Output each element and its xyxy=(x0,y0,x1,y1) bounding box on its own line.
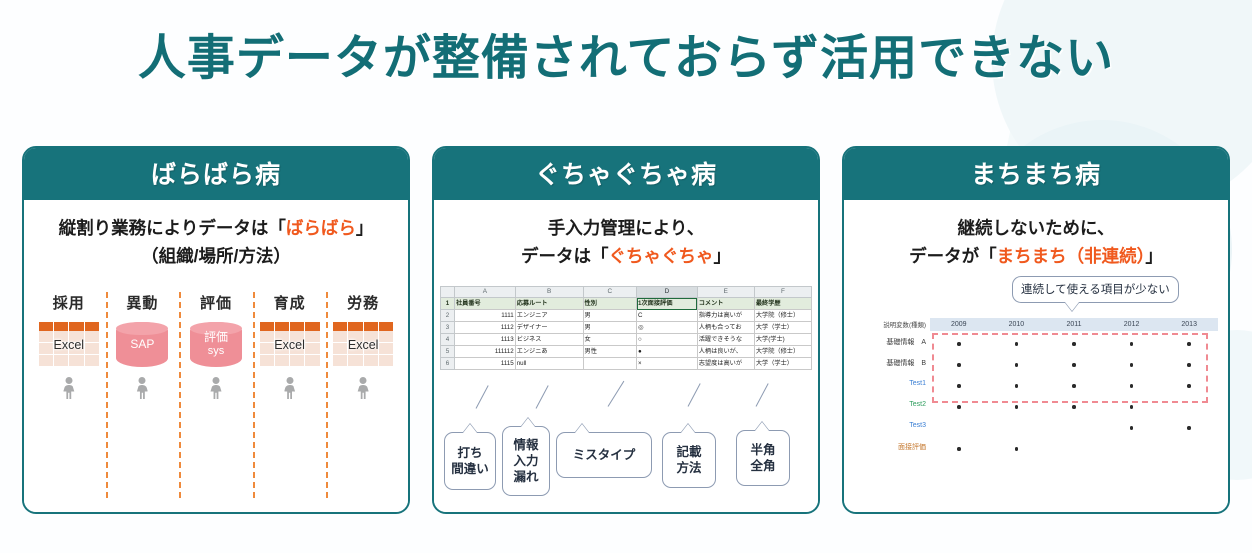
cell-d4[interactable]: ○ xyxy=(637,334,698,346)
callout-line-2: 全角 xyxy=(750,458,775,474)
matrix-cell-empty xyxy=(1045,415,1103,436)
issue-callouts: 打ち 間違い 情報 入力 漏れ ミスタイプ 記載 xyxy=(440,416,812,506)
matrix-cell xyxy=(988,331,1046,352)
cell-c4[interactable]: 女 xyxy=(583,334,637,346)
cell-c6[interactable] xyxy=(583,358,637,370)
data-dot xyxy=(1015,342,1019,346)
card-guchagucha-header: ぐちゃぐちゃ病 xyxy=(434,148,818,200)
excel-label: Excel xyxy=(39,322,99,367)
person-icon xyxy=(136,377,148,399)
system-column-saiyou: 採用 Excel xyxy=(32,292,106,504)
spreadsheet-table[interactable]: A B C D E F 1 社員番号 応募ルート 性別 1次面接評価 コメント xyxy=(440,286,812,370)
matrix-year-2013: 2013 xyxy=(1160,318,1218,331)
spreadsheet-column-header-row: A B C D E F xyxy=(441,287,812,298)
matrix-row: Test1 xyxy=(858,373,1218,394)
card-machimachi-header: まちまち病 xyxy=(844,148,1228,200)
page-title: 人事データが整備されておらず活用できない xyxy=(0,18,1252,88)
matrix-row-label-test2: Test2 xyxy=(858,394,930,415)
col-letter-f[interactable]: F xyxy=(754,287,811,298)
callout-hankaku-zenkaku[interactable]: 半角 全角 xyxy=(736,430,790,486)
column-label: 異動 xyxy=(126,292,158,313)
excel-table-icon: Excel xyxy=(333,322,393,367)
excel-table-icon: Excel xyxy=(39,322,99,367)
data-dot xyxy=(1130,363,1134,367)
callout-uchi-machigai[interactable]: 打ち 間違い xyxy=(444,432,496,490)
table-row: 5 111112 エンジニあ 男性 ● 人柄は良いが、 大学院（修士） xyxy=(441,346,812,358)
matrix-cell xyxy=(988,436,1046,457)
callout-line-3: 漏れ xyxy=(513,469,538,485)
card-guchagucha-body: 手入力管理により、 データは「ぐちゃぐちゃ」 A B C D E F xyxy=(434,200,818,512)
lead-text-post: 」 xyxy=(714,246,732,266)
data-dot xyxy=(1187,342,1191,346)
cylinder-label-2: sys xyxy=(208,345,225,359)
data-dot xyxy=(957,447,961,451)
table-row: 3 1112 デザイナー 男 ◎ 人柄も合ってお 大学（学士） xyxy=(441,322,812,334)
data-dot xyxy=(1130,342,1134,346)
matrix-cell xyxy=(1103,394,1161,415)
person-icon xyxy=(63,377,75,399)
data-dot xyxy=(1015,384,1019,388)
callout-line-1: 半角 xyxy=(750,442,775,458)
cell-b2[interactable]: エンジニア xyxy=(515,310,583,322)
callout-leader-line xyxy=(688,383,701,406)
data-dot xyxy=(957,342,961,346)
matrix-year-2011: 2011 xyxy=(1045,318,1103,331)
callout-line-1: 情報 xyxy=(513,437,538,453)
lead-line-1: 手入力管理により、 xyxy=(444,214,808,242)
column-label: 育成 xyxy=(274,292,306,313)
header-cell-ichiji-mensetsu-hyouka[interactable]: 1次面接評価 xyxy=(637,298,698,310)
header-cell-seibetsu[interactable]: 性別 xyxy=(583,298,637,310)
person-icon xyxy=(357,377,369,399)
callout-line-2: 入力 xyxy=(513,453,538,469)
column-label: 労務 xyxy=(347,292,379,313)
person-icon xyxy=(210,377,222,399)
cell-a3[interactable]: 1112 xyxy=(455,322,516,334)
database-cylinder-icon: 評価 sys xyxy=(190,322,242,367)
system-columns: 採用 Excel 異動 SAP xyxy=(32,292,400,504)
matrix-row-label-mensetsu-hyouka: 面接評価 xyxy=(858,436,930,457)
cell-c5[interactable]: 男性 xyxy=(583,346,637,358)
matrix-row-label-test3: Test3 xyxy=(858,415,930,436)
matrix-cell-empty xyxy=(1045,436,1103,457)
spreadsheet[interactable]: A B C D E F 1 社員番号 応募ルート 性別 1次面接評価 コメント xyxy=(440,286,812,370)
data-dot xyxy=(1187,363,1191,367)
matrix-row: Test2 xyxy=(858,394,1218,415)
callout-line-2: 方法 xyxy=(676,460,701,476)
card-guchagucha: ぐちゃぐちゃ病 手入力管理により、 データは「ぐちゃぐちゃ」 A B C D E xyxy=(432,146,820,514)
matrix-cell xyxy=(930,394,988,415)
table-row: 2 1111 エンジニア 男 C 指導力は高いが 大学院（修士） xyxy=(441,310,812,322)
data-dot xyxy=(1130,405,1134,409)
system-column-ikusei: 育成 Excel xyxy=(253,292,327,504)
callout-line-1: ミスタイプ xyxy=(573,447,636,463)
table-row: 4 1113 ビジネス 女 ○ 活躍できそうな 大学(学士) xyxy=(441,334,812,346)
card-barabara-lead: 縦割り業務によりデータは「ばらばら」 （組織/場所/方法） xyxy=(34,214,398,271)
lead-text-post: 」 xyxy=(1145,246,1163,266)
callout-line-1: 記載 xyxy=(676,444,701,460)
cell-a6[interactable]: 1115 xyxy=(455,358,516,370)
data-dot xyxy=(1187,426,1191,430)
matrix-cell-empty xyxy=(930,415,988,436)
data-dot xyxy=(957,384,961,388)
cell-b6[interactable]: null xyxy=(515,358,583,370)
row-number[interactable]: 5 xyxy=(441,346,455,358)
row-number[interactable]: 1 xyxy=(441,298,455,310)
matrix-cell xyxy=(1045,331,1103,352)
matrix-cell xyxy=(930,352,988,373)
callout-jouhou-nyuuryoku-more[interactable]: 情報 入力 漏れ xyxy=(502,426,550,496)
card-barabara-header: ばらばら病 xyxy=(24,148,408,200)
callout-leader-line xyxy=(476,385,489,408)
matrix-row: 基礎情報 B xyxy=(858,352,1218,373)
col-letter-b[interactable]: B xyxy=(515,287,583,298)
data-dot xyxy=(1130,384,1134,388)
data-dot xyxy=(1015,363,1019,367)
data-dot xyxy=(1072,384,1076,388)
lead-subtext: （組織/場所/方法） xyxy=(34,242,398,270)
cell-d5[interactable]: ● xyxy=(637,346,698,358)
header-cell-comment[interactable]: コメント xyxy=(697,298,754,310)
matrix-row: 基礎情報 A xyxy=(858,331,1218,352)
row-number[interactable]: 6 xyxy=(441,358,455,370)
cell-e5[interactable]: 人柄は良いが、 xyxy=(697,346,754,358)
matrix-cell xyxy=(1045,394,1103,415)
cell-f5[interactable]: 大学院（修士） xyxy=(754,346,811,358)
data-dot xyxy=(1072,363,1076,367)
cell-f6[interactable]: 大学（学士） xyxy=(754,358,811,370)
lead-text-pre: データは「 xyxy=(521,246,609,266)
data-dot xyxy=(1187,384,1191,388)
card-guchagucha-lead: 手入力管理により、 データは「ぐちゃぐちゃ」 xyxy=(444,214,808,271)
matrix-cell-empty xyxy=(988,415,1046,436)
table-row: 6 1115 null × 志望度は高いが 大学（学士） xyxy=(441,358,812,370)
matrix-year-2010: 2010 xyxy=(988,318,1046,331)
header-cell-shain-bangou[interactable]: 社員番号 xyxy=(455,298,516,310)
callout-leader-line xyxy=(756,383,769,406)
cell-f3[interactable]: 大学（学士） xyxy=(754,322,811,334)
cell-c2[interactable]: 男 xyxy=(583,310,637,322)
lead-text-pre: データが「 xyxy=(909,246,997,266)
col-letter-a[interactable]: A xyxy=(455,287,516,298)
system-column-roumu: 労務 Excel xyxy=(326,292,400,504)
cell-a4[interactable]: 1113 xyxy=(455,334,516,346)
corner-cell[interactable] xyxy=(441,287,455,298)
matrix-corner-label: 説明変数(種類) xyxy=(858,318,930,331)
cell-d6[interactable]: × xyxy=(637,358,698,370)
excel-label: Excel xyxy=(333,322,393,367)
matrix-cell xyxy=(988,394,1046,415)
matrix-cell xyxy=(1160,352,1218,373)
column-label: 評価 xyxy=(200,292,232,313)
lead-text-pre: 縦割り業務によりデータは「 xyxy=(59,218,286,238)
matrix-cell xyxy=(1160,373,1218,394)
system-column-hyouka: 評価 評価 sys xyxy=(179,292,253,504)
matrix-cell xyxy=(1103,352,1161,373)
cylinder-label: SAP xyxy=(130,337,154,352)
cell-f4[interactable]: 大学(学士) xyxy=(754,334,811,346)
card-barabara-body: 縦割り業務によりデータは「ばらばら」 （組織/場所/方法） 採用 Excel xyxy=(24,200,408,512)
cell-e4[interactable]: 活躍できそうな xyxy=(697,334,754,346)
matrix-cell xyxy=(988,352,1046,373)
cell-c3[interactable]: 男 xyxy=(583,322,637,334)
cell-e2[interactable]: 指導力は高いが xyxy=(697,310,754,322)
callout-leader-line xyxy=(536,385,549,408)
lead-text-post: 」 xyxy=(356,218,374,238)
cell-b3[interactable]: デザイナー xyxy=(515,322,583,334)
matrix-cell xyxy=(1045,352,1103,373)
matrix-table: 説明変数(種類) 2009 2010 2011 2012 2013 基礎情報 A xyxy=(858,318,1218,457)
card-machimachi-lead: 継続しないために、 データが「まちまち（非連続）」 xyxy=(854,214,1218,271)
matrix-cell xyxy=(930,373,988,394)
slide-canvas: 人事データが整備されておらず活用できない ばらばら病 縦割り業務によりデータは「… xyxy=(0,0,1252,553)
matrix-year-2012: 2012 xyxy=(1103,318,1161,331)
matrix-cell xyxy=(1103,331,1161,352)
matrix-cell xyxy=(930,436,988,457)
cell-b4[interactable]: ビジネス xyxy=(515,334,583,346)
excel-table-icon: Excel xyxy=(260,322,320,367)
cell-d3[interactable]: ◎ xyxy=(637,322,698,334)
matrix-cell-empty xyxy=(1160,436,1218,457)
matrix-row-label-kiso-a: 基礎情報 A xyxy=(858,331,930,352)
lead-text-highlight: ぐちゃぐちゃ xyxy=(609,246,714,266)
spreadsheet-header-row: 1 社員番号 応募ルート 性別 1次面接評価 コメント 最終学歴 xyxy=(441,298,812,310)
column-label: 採用 xyxy=(53,292,85,313)
matrix-header-row: 説明変数(種類) 2009 2010 2011 2012 2013 xyxy=(858,318,1218,331)
cell-d2[interactable]: C xyxy=(637,310,698,322)
matrix-cell xyxy=(1103,415,1161,436)
matrix-year-2009: 2009 xyxy=(930,318,988,331)
excel-label: Excel xyxy=(260,322,320,367)
matrix-cell xyxy=(1045,373,1103,394)
person-icon xyxy=(284,377,296,399)
matrix-row-label-kiso-b: 基礎情報 B xyxy=(858,352,930,373)
cell-e3[interactable]: 人柄も合ってお xyxy=(697,322,754,334)
lead-text-highlight: ばらばら xyxy=(286,218,356,238)
lead-line-1: 継続しないために、 xyxy=(854,214,1218,242)
matrix-cell xyxy=(1160,415,1218,436)
cell-e6[interactable]: 志望度は高いが xyxy=(697,358,754,370)
matrix-cell xyxy=(988,373,1046,394)
col-letter-e[interactable]: E xyxy=(697,287,754,298)
row-number[interactable]: 4 xyxy=(441,334,455,346)
row-number[interactable]: 3 xyxy=(441,322,455,334)
database-cylinder-icon: SAP xyxy=(116,322,168,367)
callout-leader-line xyxy=(608,381,625,407)
callout-kisai-houhou[interactable]: 記載 方法 xyxy=(662,432,716,488)
matrix-annotation-callout[interactable]: 連続して使える項目が少ない xyxy=(1012,276,1179,303)
col-letter-d[interactable]: D xyxy=(637,287,698,298)
header-cell-oubo-route[interactable]: 応募ルート xyxy=(515,298,583,310)
cell-a2[interactable]: 1111 xyxy=(455,310,516,322)
matrix-cell xyxy=(1103,373,1161,394)
data-dot xyxy=(1015,405,1019,409)
matrix-cell xyxy=(1160,331,1218,352)
data-dot xyxy=(1072,405,1076,409)
data-dot xyxy=(1015,447,1019,451)
matrix-cell-empty xyxy=(1160,394,1218,415)
col-letter-c[interactable]: C xyxy=(583,287,637,298)
data-dot xyxy=(957,363,961,367)
callout-mistype[interactable]: ミスタイプ xyxy=(556,432,652,478)
card-barabara: ばらばら病 縦割り業務によりデータは「ばらばら」 （組織/場所/方法） 採用 E… xyxy=(22,146,410,514)
row-number[interactable]: 2 xyxy=(441,310,455,322)
data-dot xyxy=(1130,426,1134,430)
header-cell-saishu-gakureki[interactable]: 最終学歴 xyxy=(754,298,811,310)
cell-f2[interactable]: 大学院（修士） xyxy=(754,310,811,322)
card-machimachi: まちまち病 継続しないために、 データが「まちまち（非連続）」 連続して使える項… xyxy=(842,146,1230,514)
cell-b5[interactable]: エンジニあ xyxy=(515,346,583,358)
matrix-row: Test3 xyxy=(858,415,1218,436)
card-machimachi-body: 継続しないために、 データが「まちまち（非連続）」 連続して使える項目が少ない … xyxy=(844,200,1228,512)
lead-text-highlight: まちまち（非連続） xyxy=(997,246,1146,266)
matrix-row: 面接評価 xyxy=(858,436,1218,457)
data-dot xyxy=(957,405,961,409)
matrix-row-label-test1: Test1 xyxy=(858,373,930,394)
matrix-cell-empty xyxy=(1103,436,1161,457)
cylinder-label: 評価 xyxy=(204,330,228,345)
cell-a5[interactable]: 111112 xyxy=(455,346,516,358)
data-dot xyxy=(1072,342,1076,346)
callout-line-1: 打ち xyxy=(451,445,489,461)
matrix-cell xyxy=(930,331,988,352)
callout-line-2: 間違い xyxy=(451,461,489,477)
data-availability-matrix: 説明変数(種類) 2009 2010 2011 2012 2013 基礎情報 A xyxy=(858,318,1218,457)
system-column-idou: 異動 SAP xyxy=(106,292,180,504)
